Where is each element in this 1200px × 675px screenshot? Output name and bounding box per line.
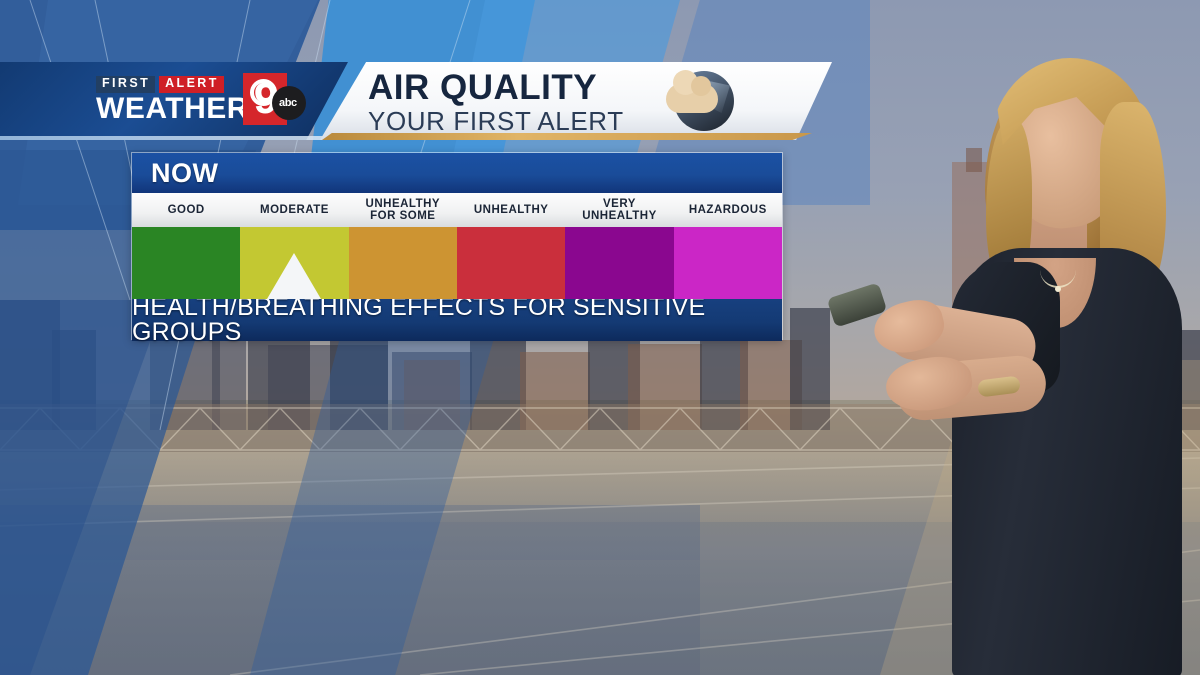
label-line-1: UNHEALTHY [366, 198, 441, 210]
label-line-1: MODERATE [260, 204, 329, 216]
band-unhealthy [457, 227, 565, 299]
scale-label-very-unhealthy: VERYUNHEALTHY [565, 193, 673, 227]
first-label: FIRST [96, 76, 155, 93]
weather-wordmark: WEATHER [96, 94, 246, 124]
band-hazardous [674, 227, 782, 299]
label-line-1: HAZARDOUS [689, 204, 767, 216]
topic-title-group: AIR QUALITY YOUR FIRST ALERT [368, 70, 624, 137]
label-line-2: FOR SOME [370, 210, 435, 222]
band-good [132, 227, 240, 299]
pendant [1055, 286, 1061, 292]
scale-label-unhealthy: UNHEALTHY [457, 193, 565, 227]
band-unhealthy-for-some [349, 227, 457, 299]
alert-label: ALERT [159, 76, 224, 93]
broadcast-frame: FIRST ALERT WEATHER 9 abc AIR QUALITY YO… [0, 0, 1200, 675]
panel-footer: HEALTH/BREATHING EFFECTS FOR SENSITIVE G… [132, 299, 782, 341]
station-banner-underline [0, 136, 332, 140]
label-line-1: UNHEALTHY [474, 204, 549, 216]
band-moderate [240, 227, 348, 299]
scale-label-moderate: MODERATE [240, 193, 348, 227]
now-header: NOW [132, 153, 782, 193]
page-title: AIR QUALITY [368, 70, 624, 105]
necklace [1040, 252, 1076, 288]
label-line-2: UNHEALTHY [582, 210, 657, 222]
scale-label-hazardous: HAZARDOUS [674, 193, 782, 227]
label-line-1: VERY [603, 198, 636, 210]
air-quality-scale-panel: NOW GOOD MODERATE UNHEALTHYFOR SOME UNHE… [131, 152, 783, 340]
label-line-1: GOOD [168, 204, 205, 216]
cloud-shape [666, 83, 718, 113]
scale-color-bands [132, 227, 782, 299]
band-very-unhealthy [565, 227, 673, 299]
meteorologist [800, 40, 1200, 675]
current-level-marker [267, 253, 321, 299]
hazy-cloud-icon [666, 67, 734, 135]
scale-label-row: GOOD MODERATE UNHEALTHYFOR SOME UNHEALTH… [132, 193, 782, 227]
now-label: NOW [151, 160, 218, 187]
health-effects-text: HEALTH/BREATHING EFFECTS FOR SENSITIVE G… [132, 295, 782, 345]
channel-9-abc-logo: 9 abc [243, 73, 295, 125]
abc-badge: abc [272, 86, 306, 120]
first-alert-weather-lockup: FIRST ALERT WEATHER [96, 76, 246, 124]
abc-label: abc [279, 97, 297, 109]
scale-label-unhealthy-for-some: UNHEALTHYFOR SOME [349, 193, 457, 227]
page-subtitle: YOUR FIRST ALERT [368, 107, 624, 137]
scale-label-good: GOOD [132, 193, 240, 227]
